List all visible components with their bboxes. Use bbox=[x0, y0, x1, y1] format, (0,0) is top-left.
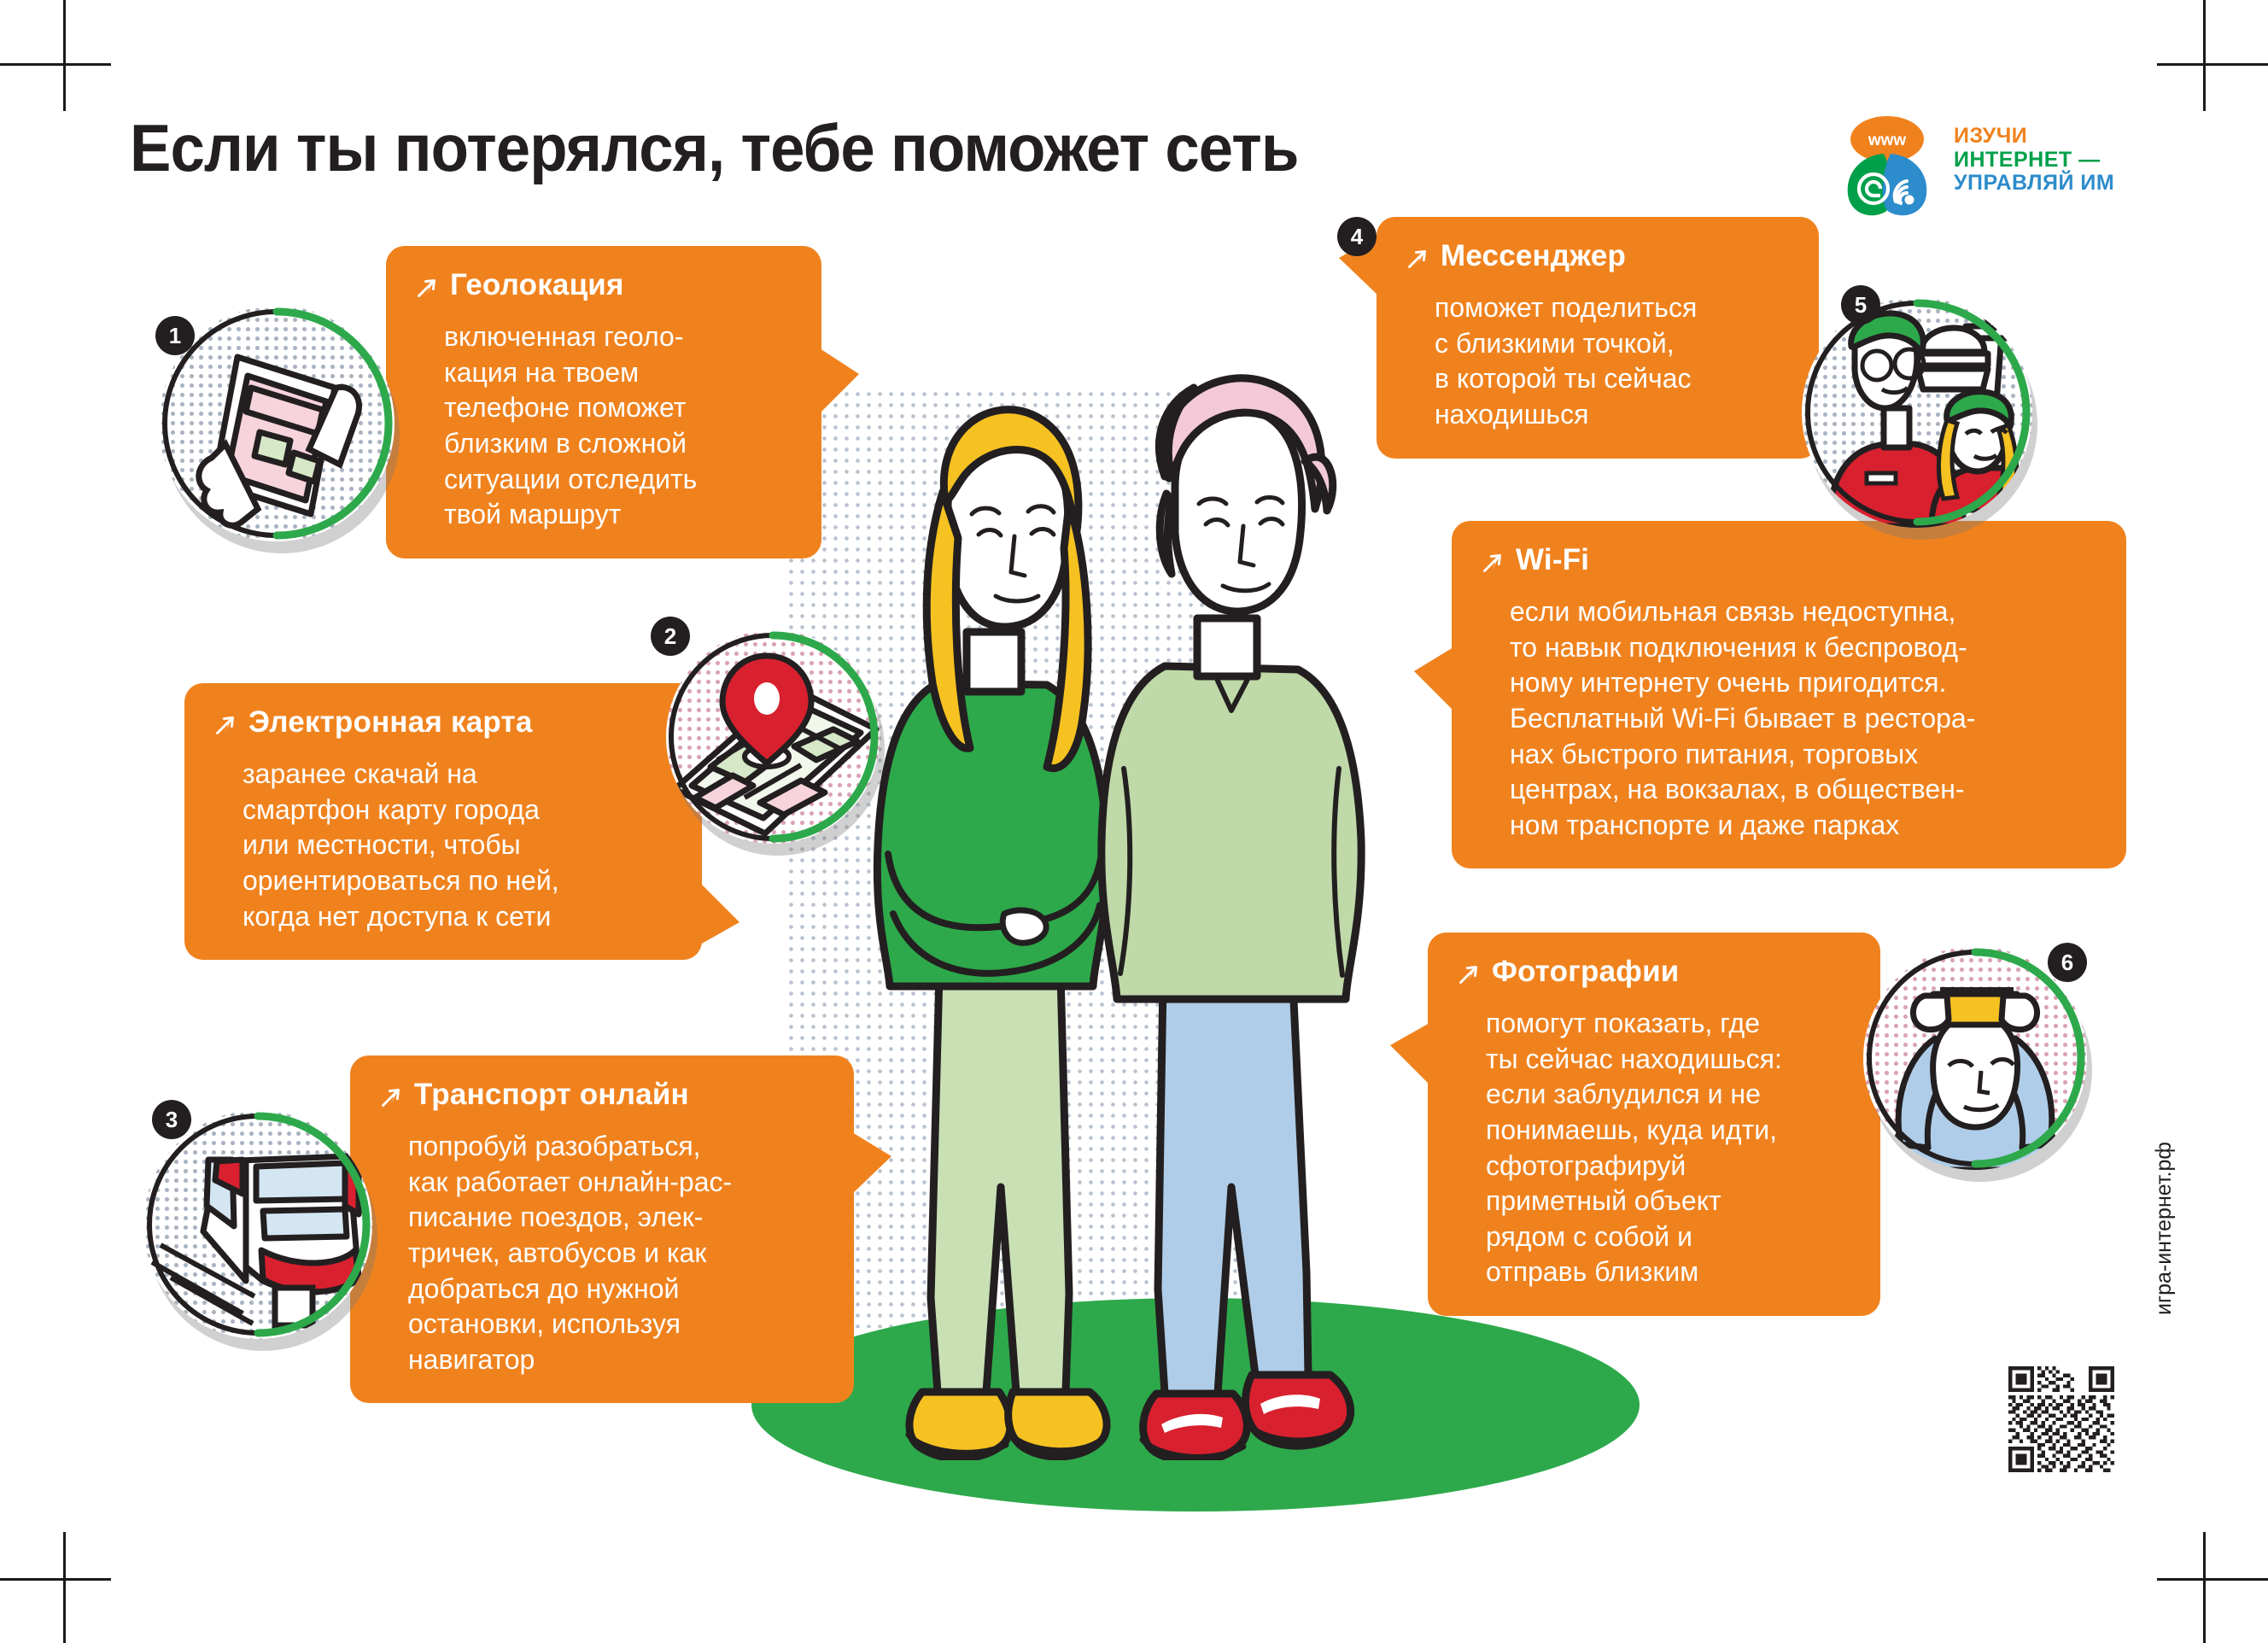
card-5-body: если мобильная связь недоступна, то навы… bbox=[1481, 594, 2097, 843]
logo-wordmark: ИЗУЧИ ИНТЕРНЕТ — УПРАВЛЯЙ ИМ bbox=[1954, 125, 2114, 196]
card-4-header: Мессенджер bbox=[1406, 239, 1790, 278]
card-3-body: попробуй разобраться, как работает онлай… bbox=[379, 1129, 825, 1377]
card-3-title: Транспорт онлайн bbox=[414, 1078, 689, 1112]
illustration-circle-3 bbox=[143, 1110, 372, 1339]
teenagers-illustration bbox=[837, 325, 1435, 1460]
card-6-title: Фотографии bbox=[1492, 955, 1680, 989]
card-5-tail bbox=[1414, 647, 1453, 710]
arrow-pointer-icon bbox=[213, 710, 237, 745]
card-1-body: включенная геоло- кация на твоем телефон… bbox=[415, 319, 792, 533]
qr-code[interactable] bbox=[2008, 1366, 2114, 1472]
page-title: Если ты потерялся, тебе поможет сеть bbox=[130, 109, 1299, 187]
badge-1: 1 bbox=[155, 316, 195, 355]
card-1-tail bbox=[820, 348, 859, 413]
card-1-header: Геолокация bbox=[415, 268, 792, 307]
brand-logo[interactable]: www ИЗУЧИ ИНТЕРНЕТ — УПРАВЛЯЙ ИМ bbox=[1836, 116, 2160, 219]
crop-mark-bottom-left-v bbox=[63, 1532, 66, 1643]
circle-5-disc bbox=[1802, 297, 2032, 528]
circle-1-disc bbox=[159, 306, 395, 541]
illustration-circle-2 bbox=[666, 630, 880, 844]
card-2-body: заранее скачай на смартфон карту города … bbox=[213, 757, 673, 934]
arrow-pointer-icon bbox=[415, 273, 438, 307]
crop-mark-bottom-left-h bbox=[0, 1578, 111, 1581]
badge-3: 3 bbox=[152, 1100, 191, 1139]
card-geolocation[interactable]: Геолокация включенная геоло- кация на тв… bbox=[386, 246, 821, 558]
card-transport-online[interactable]: Транспорт онлайн попробуй разобраться, к… bbox=[350, 1055, 854, 1403]
card-4-body: поможет поделиться с близкими точкой, в … bbox=[1406, 290, 1790, 432]
arrow-pointer-icon bbox=[379, 1083, 402, 1117]
arrow-pointer-icon bbox=[1406, 244, 1429, 278]
logo-mark-icon: www bbox=[1836, 116, 1938, 217]
card-5-title: Wi-Fi bbox=[1516, 543, 1589, 577]
crop-mark-top-right-v bbox=[2203, 0, 2206, 111]
badge-6: 6 bbox=[2048, 943, 2087, 982]
crop-mark-bottom-right-v bbox=[2203, 1532, 2206, 1643]
card-2-tail bbox=[700, 883, 739, 944]
crop-mark-top-left-h bbox=[0, 63, 111, 66]
badge-4: 4 bbox=[1337, 217, 1377, 256]
card-electronic-map[interactable]: Электронная карта заранее скачай на смар… bbox=[184, 683, 702, 960]
card-5-header: Wi-Fi bbox=[1481, 543, 2097, 582]
circle-2-disc bbox=[666, 630, 880, 844]
illustration-circle-5 bbox=[1802, 297, 2032, 528]
card-4-title: Мессенджер bbox=[1441, 239, 1626, 273]
circle-3-disc bbox=[143, 1110, 372, 1339]
illustration-circle-6 bbox=[1863, 946, 2087, 1170]
card-3-tail bbox=[852, 1132, 891, 1194]
site-url[interactable]: игра-интернет.рф bbox=[2152, 1142, 2177, 1315]
card-2-title: Электронная карта bbox=[248, 705, 532, 740]
crop-mark-bottom-right-h bbox=[2157, 1578, 2268, 1581]
card-6-tail bbox=[1390, 1023, 1429, 1085]
card-wifi[interactable]: Wi-Fi если мобильная связь недоступна, т… bbox=[1452, 521, 2126, 868]
card-2-header: Электронная карта bbox=[213, 705, 673, 745]
badge-5: 5 bbox=[1841, 285, 1880, 325]
crop-mark-top-left-v bbox=[63, 0, 66, 111]
circle-6-disc bbox=[1863, 946, 2087, 1170]
arrow-pointer-icon bbox=[1481, 548, 1504, 582]
badge-2: 2 bbox=[651, 617, 690, 656]
arrow-pointer-icon bbox=[1457, 960, 1480, 994]
card-6-body: помогут показать, где ты сейчас находишь… bbox=[1457, 1006, 1851, 1290]
logo-line-2: ИНТЕРНЕТ — bbox=[1954, 149, 2114, 172]
card-messenger[interactable]: Мессенджер поможет поделиться с близкими… bbox=[1377, 217, 1819, 459]
logo-line-3: УПРАВЛЯЙ ИМ bbox=[1954, 172, 2114, 196]
crop-mark-top-right-h bbox=[2157, 63, 2268, 66]
card-3-header: Транспорт онлайн bbox=[379, 1078, 825, 1117]
card-1-title: Геолокация bbox=[450, 268, 624, 302]
illustration-circle-1 bbox=[159, 306, 395, 541]
card-photos[interactable]: Фотографии помогут показать, где ты сейч… bbox=[1428, 933, 1880, 1316]
card-6-header: Фотографии bbox=[1457, 955, 1851, 994]
logo-line-1: ИЗУЧИ bbox=[1954, 125, 2114, 149]
svg-text:www: www bbox=[1868, 132, 1907, 149]
